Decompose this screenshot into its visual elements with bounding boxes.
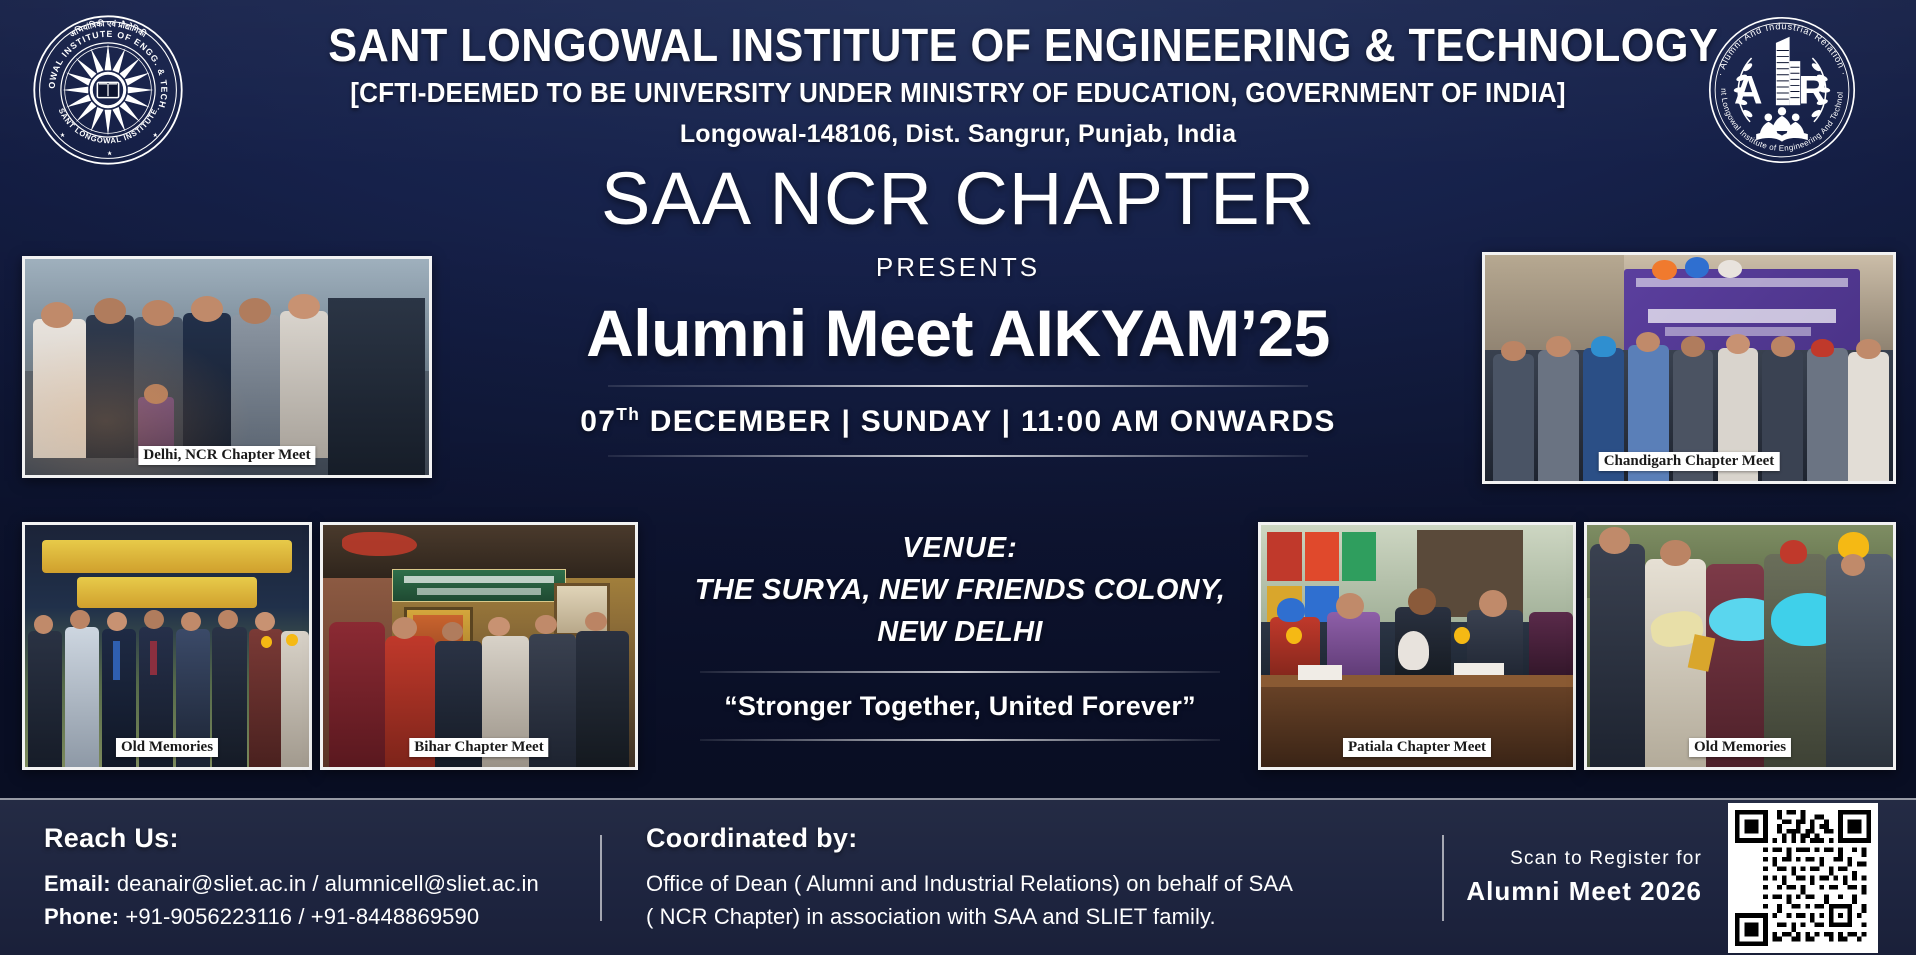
- photo-caption: Delhi, NCR Chapter Meet: [138, 446, 315, 465]
- email-label: Email:: [44, 871, 111, 896]
- presents-label: PRESENTS: [370, 252, 1546, 283]
- event-title: Alumni Meet AIKYAM’25: [370, 299, 1546, 368]
- divider-above-tagline: [700, 671, 1220, 673]
- qr-caption: Scan to Register for Alumni Meet 2026: [1466, 848, 1702, 907]
- coordinated-by-line-1: Office of Dean ( Alumni and Industrial R…: [646, 867, 1442, 900]
- photo-caption: Chandigarh Chapter Meet: [1599, 452, 1780, 471]
- coordinated-by-heading: Coordinated by:: [646, 823, 1442, 854]
- divider-under-date: [608, 455, 1308, 457]
- photo-caption: Patiala Chapter Meet: [1343, 738, 1491, 757]
- photo-patiala-chapter-meet: Patiala Chapter Meet: [1258, 522, 1576, 770]
- photo-bihar-chapter-meet: Bihar Chapter Meet: [320, 522, 638, 770]
- qr-caption-big: Alumni Meet 2026: [1466, 876, 1702, 907]
- reach-us-heading: Reach Us:: [44, 823, 600, 854]
- photo-caption: Old Memories: [1689, 738, 1791, 757]
- qr-caption-small: Scan to Register for: [1466, 848, 1702, 870]
- date-rest: DECEMBER | SUNDAY | 11:00 AM ONWARDS: [640, 405, 1336, 438]
- qr-section: Scan to Register for Alumni Meet 2026: [1466, 803, 1916, 953]
- reach-us-section: Reach Us: Email: deanair@sliet.ac.in / a…: [0, 800, 600, 955]
- coordinated-by-line-2: ( NCR Chapter) in association with SAA a…: [646, 900, 1442, 933]
- institute-subtitle: [CFTI-DEEMED TO BE UNIVERSITY UNDER MINI…: [335, 77, 1581, 109]
- photo-caption: Old Memories: [116, 738, 218, 757]
- divider-under-title: [608, 385, 1308, 387]
- qr-code[interactable]: [1728, 803, 1878, 953]
- hero-block: SAA NCR CHAPTER PRESENTS Alumni Meet AIK…: [370, 160, 1546, 457]
- chapter-title: SAA NCR CHAPTER: [370, 160, 1546, 238]
- phone-line: Phone: +91-9056223116 / +91-8448869590: [44, 900, 600, 933]
- date-ordinal: Th: [616, 404, 640, 424]
- sliet-seal-logo: LONGOWAL INSTITUTE OF ENGG. & TECH. SANT…: [32, 14, 184, 166]
- date-day: 07: [580, 405, 616, 438]
- venue-line-1: THE SURYA, NEW FRIENDS COLONY,: [640, 574, 1280, 607]
- footer-divider-2: [1442, 835, 1444, 921]
- venue-label: VENUE:: [640, 532, 1280, 565]
- email-value[interactable]: deanair@sliet.ac.in / alumnicell@sliet.a…: [111, 871, 539, 896]
- photo-caption: Bihar Chapter Meet: [409, 738, 548, 757]
- institute-name: SANT LONGOWAL INSTITUTE OF ENGINEERING &…: [328, 22, 1588, 70]
- air-logo: · Alumni And Industrial Relation · Sant …: [1706, 14, 1858, 166]
- venue-line-2: NEW DELHI: [640, 616, 1280, 649]
- event-tagline: “Stronger Together, United Forever”: [640, 691, 1280, 722]
- phone-value[interactable]: +91-9056223116 / +91-8448869590: [119, 904, 479, 929]
- poster-canvas: LONGOWAL INSTITUTE OF ENGG. & TECH. SANT…: [0, 0, 1916, 955]
- photo-old-memories-right: Old Memories: [1584, 522, 1896, 770]
- phone-label: Phone:: [44, 904, 119, 929]
- institute-address: Longowal-148106, Dist. Sangrur, Punjab, …: [288, 120, 1628, 149]
- poster-header: SANT LONGOWAL INSTITUTE OF ENGINEERING &…: [0, 0, 1916, 168]
- email-line: Email: deanair@sliet.ac.in / alumnicell@…: [44, 867, 600, 900]
- divider-below-tagline: [700, 739, 1220, 741]
- svg-text:A R: A R: [1734, 69, 1830, 113]
- coordinated-by-section: Coordinated by: Office of Dean ( Alumni …: [602, 800, 1442, 955]
- venue-block: VENUE: THE SURYA, NEW FRIENDS COLONY, NE…: [640, 532, 1280, 741]
- event-date-line: 07Th DECEMBER | SUNDAY | 11:00 AM ONWARD…: [370, 404, 1546, 439]
- photo-old-memories-left: Old Memories: [22, 522, 312, 770]
- poster-footer: Reach Us: Email: deanair@sliet.ac.in / a…: [0, 798, 1916, 955]
